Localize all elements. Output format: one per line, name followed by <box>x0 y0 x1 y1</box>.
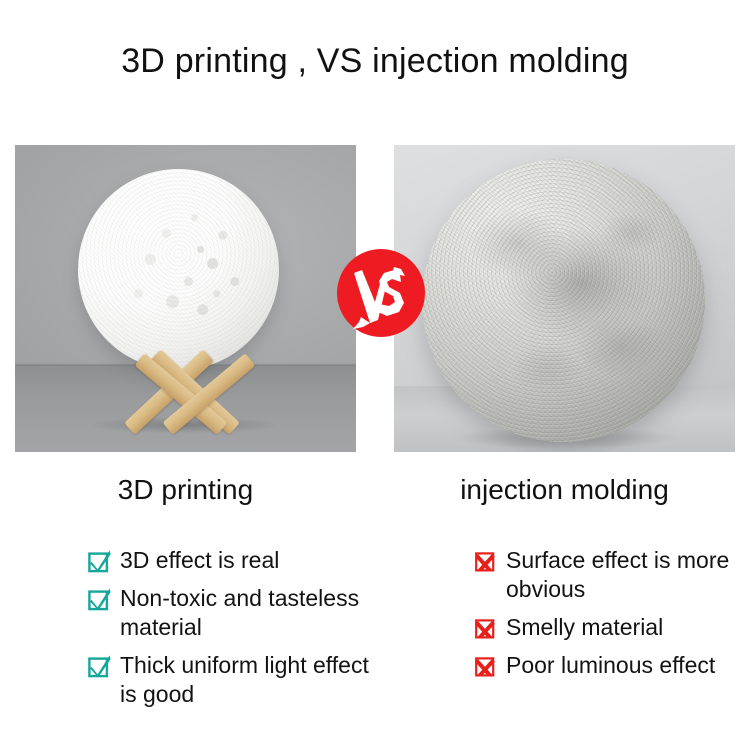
feature-item: Smelly material <box>474 613 750 642</box>
vs-badge <box>337 249 425 337</box>
feature-list-3d-printing: 3D effect is real Non-toxic and tasteles… <box>88 546 388 718</box>
feature-label: Smelly material <box>506 613 663 642</box>
cross-box-icon <box>474 550 497 573</box>
feature-label: Thick uniform light effect is good <box>120 651 388 709</box>
feature-item: Non-toxic and tasteless material <box>88 584 388 642</box>
feature-item: Thick uniform light effect is good <box>88 651 388 709</box>
feature-item: Surface effect is more obvious <box>474 546 750 604</box>
check-box-icon <box>88 550 111 573</box>
product-photo-3d-printing <box>15 145 356 452</box>
feature-item: 3D effect is real <box>88 546 388 575</box>
feature-list-injection-molding: Surface effect is more obvious Smelly ma… <box>474 546 750 689</box>
moon-lamp-sphere <box>78 169 279 370</box>
product-photo-injection-molding <box>394 145 735 452</box>
check-box-icon <box>88 588 111 611</box>
feature-label: Non-toxic and tasteless material <box>120 584 388 642</box>
feature-item: Poor luminous effect <box>474 651 750 680</box>
wooden-stand <box>111 358 253 426</box>
cross-box-icon <box>474 617 497 640</box>
page-title: 3D printing , VS injection molding <box>0 40 750 82</box>
caption-injection-molding: injection molding <box>394 472 735 508</box>
molded-sphere <box>422 159 705 442</box>
cross-box-icon <box>474 655 497 678</box>
check-box-icon <box>88 655 111 678</box>
feature-label: Surface effect is more obvious <box>506 546 750 604</box>
feature-label: Poor luminous effect <box>506 651 715 680</box>
caption-3d-printing: 3D printing <box>15 472 356 508</box>
feature-label: 3D effect is real <box>120 546 279 575</box>
